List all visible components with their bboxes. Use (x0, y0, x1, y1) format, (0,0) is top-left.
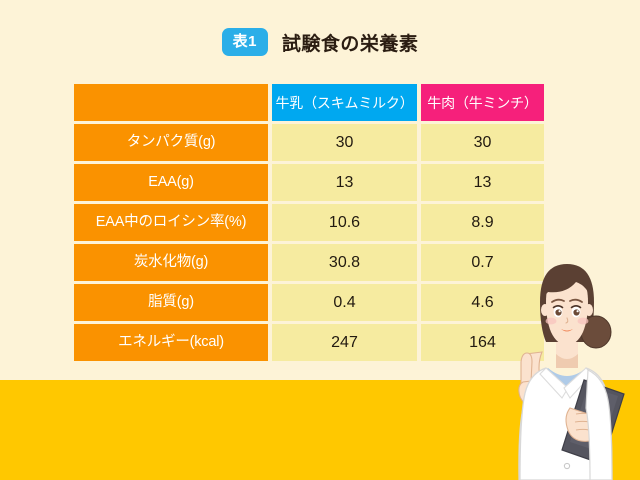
iris-left (555, 309, 561, 315)
table-row: EAA(g) 13 13 (74, 164, 544, 201)
cell-milk: 10.6 (272, 204, 417, 241)
row-label: EAA(g) (74, 164, 268, 201)
table-header-row: 牛乳（スキムミルク） 牛肉（牛ミンチ） (74, 84, 544, 121)
row-label: EAA中のロイシン率(%) (74, 204, 268, 241)
column-header-milk: 牛乳（スキムミルク） (272, 84, 417, 121)
cell-milk: 13 (272, 164, 417, 201)
table-row: EAA中のロイシン率(%) 10.6 8.9 (74, 204, 544, 241)
cell-milk: 30 (272, 124, 417, 161)
title-row: 表1 試験食の栄養素 (0, 28, 640, 56)
cell-beef: 13 (421, 164, 544, 201)
cell-milk: 0.4 (272, 284, 417, 321)
cell-beef: 30 (421, 124, 544, 161)
table-number-badge: 表1 (222, 28, 268, 56)
blush-right (578, 318, 589, 325)
ear-right (585, 304, 593, 316)
slide-canvas: 表1 試験食の栄養素 牛乳（スキムミルク） 牛肉（牛ミンチ） タンパク質(g) … (0, 0, 640, 480)
ear-left (541, 304, 549, 316)
table-row: 脂質(g) 0.4 4.6 (74, 284, 544, 321)
blush-left (546, 318, 557, 325)
right-sleeve (586, 370, 612, 480)
cell-milk: 30.8 (272, 244, 417, 281)
row-label: タンパク質(g) (74, 124, 268, 161)
eye-highlight-left (559, 310, 561, 312)
row-label: 脂質(g) (74, 284, 268, 321)
row-label: 炭水化物(g) (74, 244, 268, 281)
eye-highlight-right (577, 310, 579, 312)
page-title: 試験食の栄養素 (282, 29, 419, 56)
row-label: エネルギー(kcal) (74, 324, 268, 361)
table-row: タンパク質(g) 30 30 (74, 124, 544, 161)
cell-milk: 247 (272, 324, 417, 361)
cell-beef: 8.9 (421, 204, 544, 241)
iris-right (573, 309, 579, 315)
table-row: エネルギー(kcal) 247 164 (74, 324, 544, 361)
doctor-illustration (488, 258, 640, 480)
table-corner-cell (74, 84, 268, 121)
column-header-beef: 牛肉（牛ミンチ） (421, 84, 544, 121)
nutrition-table: 牛乳（スキムミルク） 牛肉（牛ミンチ） タンパク質(g) 30 30 EAA(g… (74, 84, 544, 361)
table-row: 炭水化物(g) 30.8 0.7 (74, 244, 544, 281)
